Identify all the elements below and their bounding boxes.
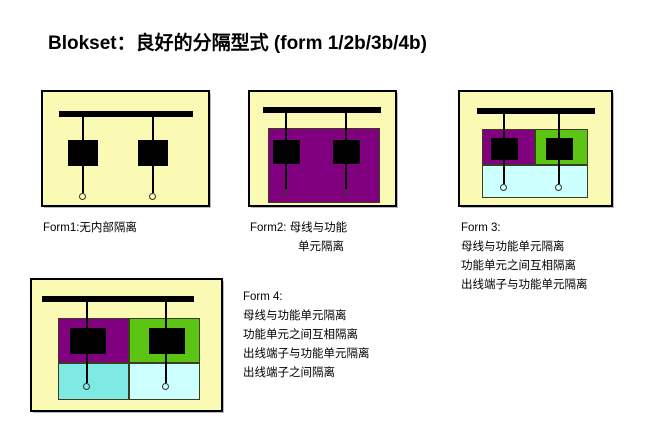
form3-breaker-left	[491, 138, 518, 160]
form1-outgoing-line-left	[82, 166, 84, 193]
form4-breaker-right	[149, 328, 185, 354]
form4-busbar	[42, 296, 194, 302]
form4-caption: Form 4: 母线与功能单元隔离 功能单元之间互相隔离 出线端子与功能单元隔离…	[243, 288, 370, 383]
form3-outgoing-terminal-compartment	[482, 165, 588, 198]
form2-drop-line-left	[285, 110, 287, 144]
form4-breaker-left	[70, 328, 106, 354]
form4-terminal-right	[162, 383, 169, 390]
form3-caption-line-4: 出线端子与功能单元隔离	[461, 276, 588, 295]
form1-busbar	[59, 111, 193, 117]
form2-caption-line-2: 单元隔离	[250, 238, 347, 257]
form2-caption-line-1: Form2: 母线与功能	[250, 219, 347, 238]
form1-breaker-right	[138, 140, 168, 166]
form2-busbar	[263, 107, 381, 113]
form4-caption-line-5: 出线端子之间隔离	[243, 364, 370, 383]
form3-caption-line-2: 母线与功能单元隔离	[461, 238, 588, 257]
form4-caption-line-1: Form 4:	[243, 288, 370, 307]
form2-terminal-left	[282, 189, 289, 196]
form2-drop-line-right	[345, 110, 347, 144]
form2-caption: Form2: 母线与功能 单元隔离	[250, 219, 347, 257]
form1-terminal-left	[79, 193, 86, 200]
form1-terminal-right	[149, 193, 156, 200]
form3-outgoing-line-left	[503, 160, 505, 184]
form1-outgoing-line-right	[152, 166, 154, 193]
form2-outgoing-line-right	[345, 164, 347, 189]
form2-breaker-left	[273, 140, 300, 164]
form4-caption-line-3: 功能单元之间互相隔离	[243, 326, 370, 345]
form4-outgoing-line-left	[86, 352, 88, 383]
form1-breaker-left	[68, 140, 98, 166]
form3-terminal-left	[500, 184, 507, 191]
form3-busbar	[477, 108, 595, 114]
form3-caption-line-1: Form 3:	[461, 219, 588, 238]
form4-outgoing-terminal-compartment-left	[58, 363, 129, 400]
form4-caption-line-4: 出线端子与功能单元隔离	[243, 345, 370, 364]
form2-outgoing-line-left	[285, 164, 287, 189]
form3-caption-line-3: 功能单元之间互相隔离	[461, 257, 588, 276]
form1-enclosure	[41, 90, 210, 207]
slide-canvas: Blokset：良好的分隔型式 (form 1/2b/3b/4b) Form1:…	[0, 0, 650, 431]
form3-outgoing-line-right	[558, 160, 560, 184]
form3-caption: Form 3: 母线与功能单元隔离 功能单元之间互相隔离 出线端子与功能单元隔离	[461, 219, 588, 295]
form4-terminal-left	[83, 383, 90, 390]
form3-breaker-right	[546, 138, 573, 160]
page-title: Blokset：良好的分隔型式 (form 1/2b/3b/4b)	[48, 28, 427, 55]
form4-caption-line-2: 母线与功能单元隔离	[243, 307, 370, 326]
form4-outgoing-line-right	[165, 352, 167, 383]
form2-breaker-right	[333, 140, 360, 164]
form3-terminal-right	[555, 184, 562, 191]
form2-terminal-right	[342, 189, 349, 196]
form1-caption: Form1:无内部隔离	[43, 219, 137, 238]
form1-caption-line-1: Form1:无内部隔离	[43, 219, 137, 238]
